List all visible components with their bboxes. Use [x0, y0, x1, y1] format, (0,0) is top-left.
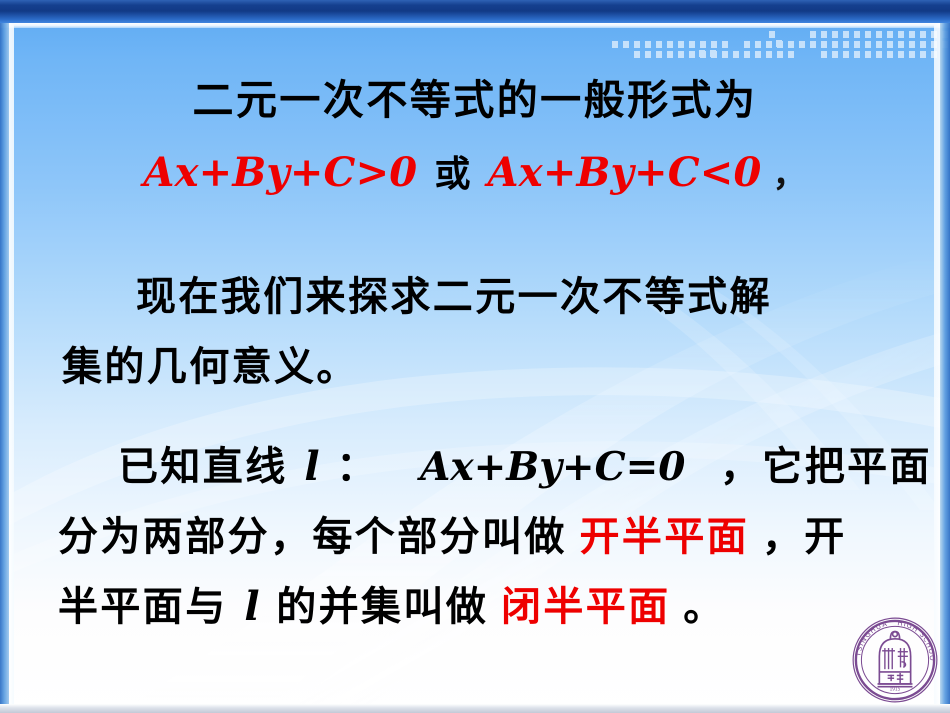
- paragraph-1-line-2: 集的几何意义。: [0, 332, 950, 402]
- general-form-formula: Ax+By+C>0 或 Ax+By+C<0 ，: [0, 147, 950, 207]
- slide-content: 二元一次不等式的一般形式为 Ax+By+C>0 或 Ax+By+C<0 ， 现在…: [0, 0, 950, 713]
- paragraph-exploration: 现在我们来探求二元一次不等式解 集的几何意义。: [0, 262, 950, 402]
- line3-highlight-closed-halfplane: 闭半平面: [501, 584, 671, 630]
- line3-prefix: 半平面与: [58, 584, 228, 630]
- line2-highlight-open-halfplane: 开半平面: [580, 514, 750, 560]
- line3-suffix: 。: [683, 584, 725, 630]
- line2-prefix: 分为两部分，每个部分叫做: [58, 514, 567, 560]
- paragraph-2-line-2: 分为两部分，每个部分叫做 开半平面 ，开: [0, 502, 950, 572]
- paragraph-1-line-1: 现在我们来探求二元一次不等式解: [0, 262, 950, 332]
- slide-title: 二元一次不等式的一般形式为: [0, 76, 950, 124]
- line3-variable-l: l: [240, 583, 263, 630]
- emblem-year: 1915: [890, 686, 901, 691]
- slide-canvas: 二元一次不等式的一般形式为 Ax+By+C>0 或 Ax+By+C<0 ， 现在…: [0, 0, 950, 713]
- paragraph-2-line-1: 已知直线 l ： Ax+By+C=0 ，它把平面: [0, 432, 950, 502]
- line3-middle: 的并集叫做: [276, 584, 488, 630]
- paragraph-2-line-3: 半平面与 l 的并集叫做 闭半平面 。: [0, 572, 950, 642]
- paragraph-halfplane-definition: 已知直线 l ： Ax+By+C=0 ，它把平面 分为两部分，每个部分叫做 开半…: [0, 432, 950, 642]
- formula-trailing-comma: ，: [767, 155, 807, 195]
- line1-colon: ：: [336, 444, 378, 490]
- formula-conjunction: 或: [422, 154, 482, 195]
- line2-suffix: ，开: [762, 514, 847, 560]
- formula-greater-than-zero: Ax+By+C>0: [143, 149, 417, 196]
- line1-prefix: 已知直线: [118, 444, 288, 490]
- line1-variable-l: l: [300, 443, 323, 490]
- slide-title-text: 二元一次不等式的一般形式为: [193, 76, 758, 124]
- formula-less-than-zero: Ax+By+C<0: [488, 149, 762, 196]
- line1-suffix: ，它把平面: [720, 444, 932, 490]
- school-emblem-icon: 1915 TSINGHUA HIGH SCHOOL: [849, 614, 941, 706]
- line1-equation: Ax+By+C=0: [420, 444, 685, 490]
